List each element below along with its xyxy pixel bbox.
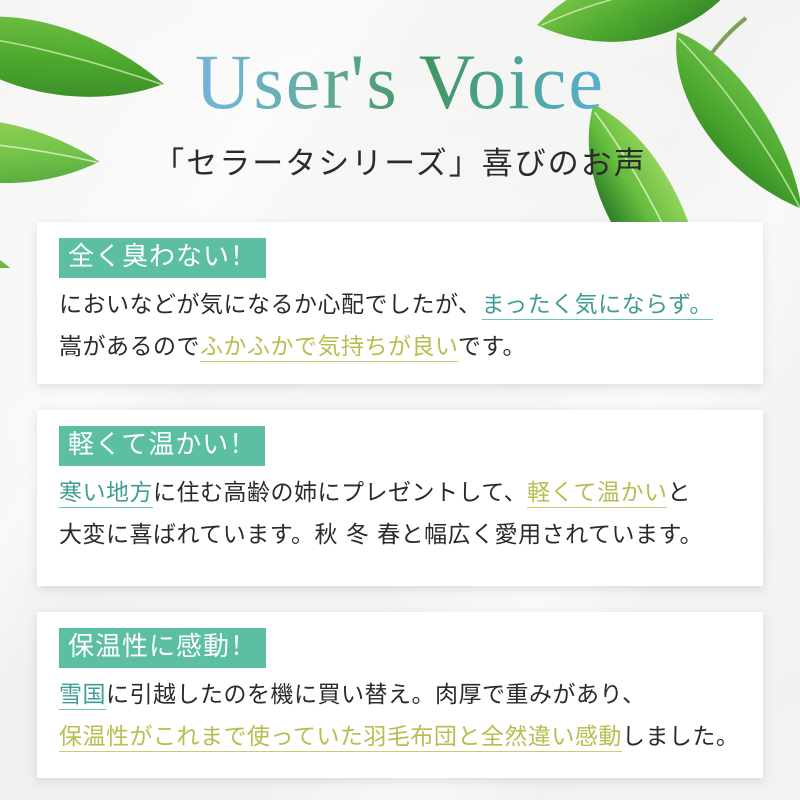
plain-text: 大変に喜ばれています。秋 冬 春と幅広く愛用されています。 — [59, 522, 703, 548]
testimonial-badge: 全く臭わない！ — [59, 238, 266, 278]
page-title: User's Voice — [0, 42, 800, 122]
testimonial-line: 保温性がこれまで使っていた羽毛布団と全然違い感動しました。 — [59, 717, 741, 758]
testimonial-line: においなどが気になるか心配でしたが、まったく気にならず。 — [59, 285, 741, 326]
highlight-olive-text: 軽くて温かい — [527, 480, 667, 508]
testimonial-card: 全く臭わない！ においなどが気になるか心配でしたが、まったく気にならず。嵩がある… — [37, 222, 763, 384]
plain-text: に引越したのを機に買い替え。肉厚で重みがあり、 — [106, 682, 646, 708]
plain-text: 嵩があるので — [59, 334, 200, 360]
testimonial-card: 軽くて温かい！ 寒い地方に住む高齢の姉にプレゼントして、軽くて温かいと大変に喜ば… — [37, 410, 763, 586]
plain-text: です。 — [458, 334, 526, 360]
testimonial-line: 雪国に引越したのを機に買い替え。肉厚で重みがあり、 — [59, 675, 741, 716]
testimonial-badge: 保温性に感動！ — [59, 628, 266, 668]
plain-text: においなどが気になるか心配でしたが、 — [59, 292, 482, 318]
highlight-olive-text: ふかふかで気持ちが良い — [200, 334, 458, 362]
testimonial-body: 雪国に引越したのを機に買い替え。肉厚で重みがあり、保温性がこれまで使っていた羽毛… — [59, 675, 741, 758]
highlight-olive-text: 保温性がこれまで使っていた羽毛布団と全然違い感動 — [59, 724, 622, 752]
testimonial-line: 大変に喜ばれています。秋 冬 春と幅広く愛用されています。 — [59, 515, 741, 556]
page-subtitle: 「セラータシリーズ」喜びのお声 — [0, 138, 800, 183]
testimonial-card: 保温性に感動！ 雪国に引越したのを機に買い替え。肉厚で重みがあり、保温性がこれま… — [37, 612, 763, 778]
plain-text: に住む高齢の姉にプレゼントして、 — [153, 480, 527, 506]
testimonial-line: 寒い地方に住む高齢の姉にプレゼントして、軽くて温かいと — [59, 473, 741, 514]
highlight-teal-text: 寒い地方 — [59, 480, 153, 508]
plain-text: しました。 — [622, 724, 740, 750]
highlight-teal-text: 雪国 — [59, 682, 106, 710]
testimonial-badge: 軽くて温かい！ — [59, 426, 265, 466]
page-header: User's Voice 「セラータシリーズ」喜びのお声 — [0, 0, 800, 212]
plain-text: と — [667, 480, 691, 506]
testimonial-card-list: 全く臭わない！ においなどが気になるか心配でしたが、まったく気にならず。嵩がある… — [37, 222, 763, 778]
testimonial-body: 寒い地方に住む高齢の姉にプレゼントして、軽くて温かいと大変に喜ばれています。秋 … — [59, 473, 741, 556]
highlight-teal-text: まったく気にならず。 — [482, 292, 713, 320]
testimonial-body: においなどが気になるか心配でしたが、まったく気にならず。嵩があるのでふかふかで気… — [59, 285, 741, 368]
testimonial-line: 嵩があるのでふかふかで気持ちが良いです。 — [59, 327, 741, 368]
